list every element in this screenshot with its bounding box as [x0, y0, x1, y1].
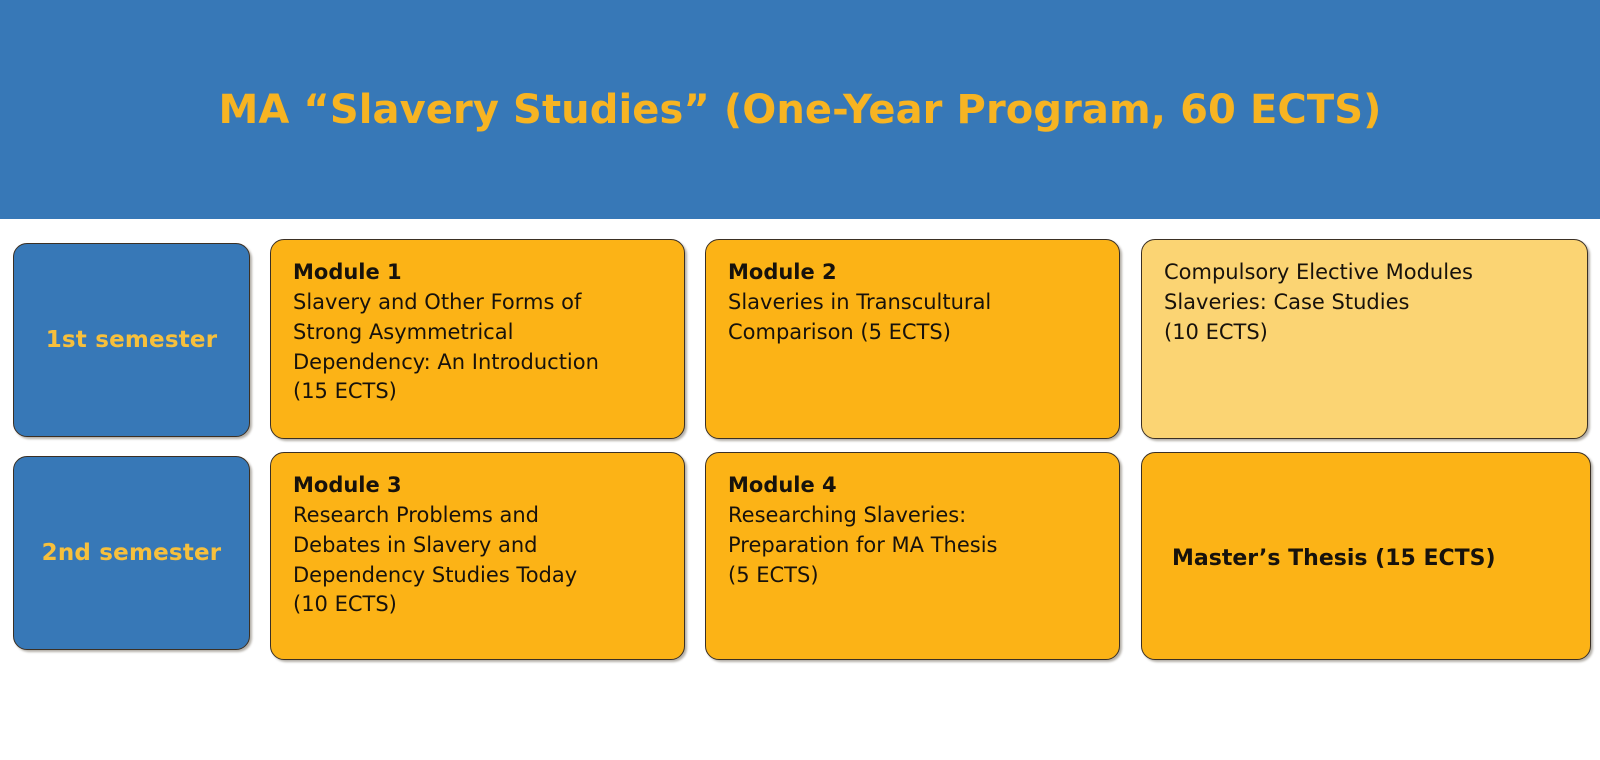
module-card-1-body: Slavery and Other Forms of Strong Asymme… [293, 288, 662, 407]
module-card-4[interactable]: Module 4 Researching Slaveries: Preparat… [705, 452, 1120, 660]
module-card-1-heading: Module 1 [293, 258, 662, 287]
module-card-4-heading: Module 4 [728, 471, 1097, 500]
module-card-2[interactable]: Module 2 Slaveries in Transcultural Comp… [705, 239, 1120, 439]
compulsory-elective-body: Compulsory Elective Modules Slaveries: C… [1164, 258, 1565, 347]
page-title: MA “Slavery Studies” (One-Year Program, … [218, 87, 1381, 133]
module-card-3-heading: Module 3 [293, 471, 662, 500]
semester-label-1: 1st semester [46, 327, 218, 353]
masters-thesis-label: Master’s Thesis (15 ECTS) [1172, 546, 1496, 571]
module-card-2-body: Slaveries in Transcultural Comparison (5… [728, 288, 1097, 348]
module-card-3[interactable]: Module 3 Research Problems and Debates i… [270, 452, 685, 660]
module-card-2-heading: Module 2 [728, 258, 1097, 287]
semester-label-box-2: 2nd semester [13, 456, 250, 650]
header-band: MA “Slavery Studies” (One-Year Program, … [0, 0, 1600, 219]
compulsory-elective-card[interactable]: Compulsory Elective Modules Slaveries: C… [1141, 239, 1588, 439]
masters-thesis-card[interactable]: Master’s Thesis (15 ECTS) [1141, 452, 1591, 660]
module-grid: 1st semester Module 1 Slavery and Other … [0, 219, 1600, 760]
module-card-3-body: Research Problems and Debates in Slavery… [293, 501, 662, 620]
module-card-4-body: Researching Slaveries: Preparation for M… [728, 501, 1097, 590]
curriculum-poster: MA “Slavery Studies” (One-Year Program, … [0, 0, 1600, 760]
semester-label-box-1: 1st semester [13, 243, 250, 437]
semester-label-2: 2nd semester [42, 540, 222, 566]
module-card-1[interactable]: Module 1 Slavery and Other Forms of Stro… [270, 239, 685, 439]
